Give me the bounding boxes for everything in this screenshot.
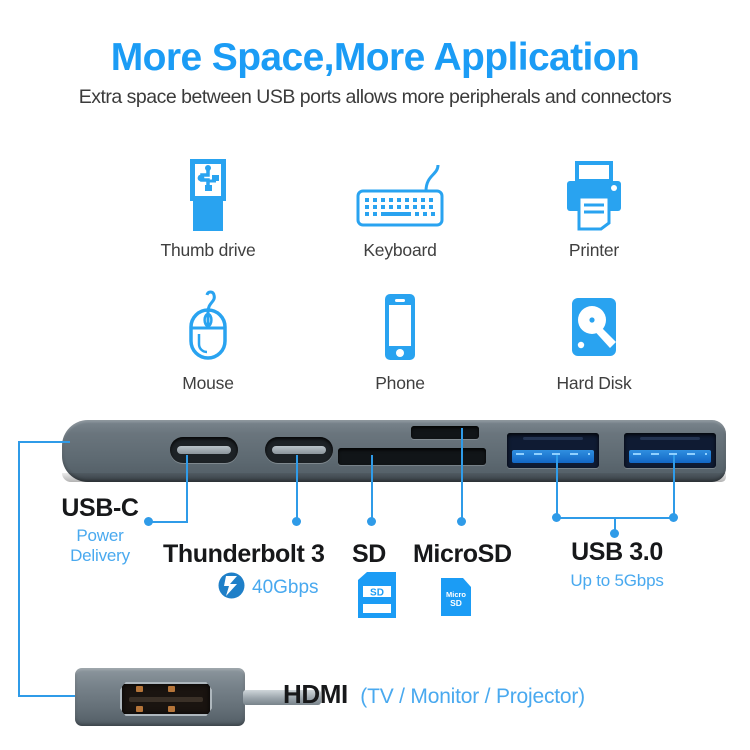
leader-dot-sd [367,517,376,526]
label-usb30-main: USB 3.0 [562,538,672,567]
peripheral-thumb-drive: Thumb drive [128,155,288,261]
usb-thumb-drive-icon [128,155,288,233]
printer-icon [514,155,674,233]
bracket-bottom-segment [18,695,78,697]
thunderbolt-icon [218,572,245,604]
label-usb-c-sub-line2: Delivery [52,546,148,566]
svg-text:SD: SD [450,598,462,608]
microsd-card-icon: Micro SD [441,578,471,621]
thunderbolt-speed: 40Gbps [252,577,319,599]
label-microsd-main: MicroSD [413,540,512,569]
hdmi-connector-device [75,668,245,726]
thunderbolt-port [265,437,333,463]
usb-c-port [170,437,238,463]
label-thunderbolt-main: Thunderbolt 3 [163,540,324,569]
leader-usb30-right-vertical [673,455,675,517]
label-sd-main: SD [352,540,386,569]
usb-a-lip [523,437,583,440]
leader-dot-microsd [457,517,466,526]
label-sd: SD [352,540,386,569]
usb-a-tongue [512,450,594,463]
usb-hub-device [62,420,726,482]
label-usb30-sub: Up to 5Gbps [562,571,672,591]
leader-usb-c-horizontal [148,521,188,523]
bracket-vertical-segment [18,441,20,697]
peripheral-hard-disk: Hard Disk [514,288,674,394]
thunderbolt-speed-row: 40Gbps [218,572,319,604]
label-thunderbolt: Thunderbolt 3 [163,540,324,569]
label-usb30: USB 3.0 Up to 5Gbps [562,538,672,591]
hdmi-pin [136,706,143,712]
label-usb-c: USB-C Power Delivery [52,494,148,566]
usb-a-port-1 [507,433,599,468]
sd-card-icon: SD [358,572,396,623]
hard-disk-icon [514,288,674,366]
peripheral-phone: Phone [320,288,480,394]
microsd-slot [411,426,479,439]
label-usb-c-sub-line1: Power [52,526,148,546]
phone-icon [320,288,480,366]
peripheral-keyboard: Keyboard [320,155,480,261]
leader-usb-c-vertical [186,455,188,523]
hdmi-pin [136,686,143,692]
label-microsd: MicroSD [413,540,512,569]
label-hdmi-sub: (TV / Monitor / Projector) [360,685,585,708]
page-subtitle: Extra space between USB ports allows mor… [0,86,750,109]
peripheral-label: Phone [320,373,480,394]
leader-dot-usb30-right [669,513,678,522]
keyboard-icon [320,155,480,233]
usb-a-port-2 [624,433,716,468]
peripheral-label: Printer [514,240,674,261]
peripheral-label: Thumb drive [128,240,288,261]
peripheral-mouse: Mouse [128,288,288,394]
hdmi-pin [168,686,175,692]
leader-microsd-vertical [461,428,463,521]
svg-text:SD: SD [370,588,384,599]
usb-a-lip [640,437,700,440]
peripheral-label: Mouse [128,373,288,394]
hdmi-port [120,682,212,716]
hdmi-port-bar [129,697,203,702]
label-hdmi-main: HDMI [283,679,348,709]
usb-a-tongue [629,450,711,463]
leader-sd-vertical [371,455,373,521]
sd-slot [338,448,486,465]
leader-usb30-left-vertical [556,455,558,517]
mouse-icon [128,288,288,366]
bracket-top-segment [18,441,70,443]
leader-dot-usb30-center [610,529,619,538]
leader-dot-usb30-left [552,513,561,522]
leader-dot-thunderbolt [292,517,301,526]
peripheral-printer: Printer [514,155,674,261]
peripheral-label: Hard Disk [514,373,674,394]
page-title: More Space,More Application [0,36,750,80]
leader-thunderbolt-vertical [296,455,298,521]
label-hdmi: HDMI (TV / Monitor / Projector) [283,679,585,710]
peripheral-label: Keyboard [320,240,480,261]
infographic-canvas: More Space,More Application Extra space … [0,0,750,750]
label-usb-c-main: USB-C [52,494,148,523]
hdmi-pin [168,706,175,712]
